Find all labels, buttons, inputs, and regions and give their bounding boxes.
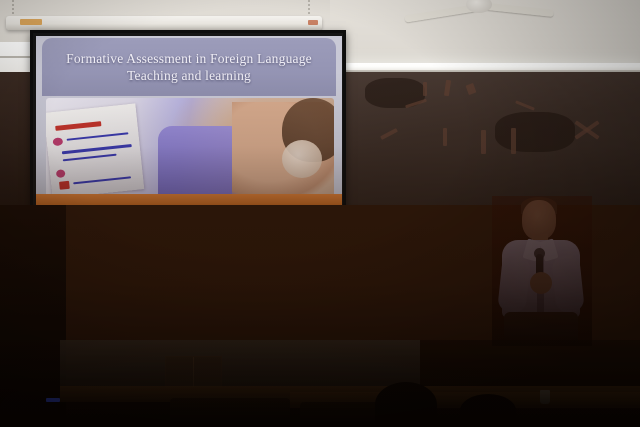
window xyxy=(0,42,30,72)
speaker-hand xyxy=(530,272,552,294)
lecture-hall-photo: Formative Assessment in Foreign Language… xyxy=(0,0,640,427)
slide-title: Formative Assessment in Foreign Language… xyxy=(42,50,336,84)
wall-mark xyxy=(380,128,398,140)
wall-mark xyxy=(515,100,535,110)
foreground-shadow-overlay xyxy=(0,340,640,427)
document-text-line xyxy=(62,144,132,154)
document-logo xyxy=(59,181,70,190)
speaker-arm-right xyxy=(551,255,585,314)
wall-mark xyxy=(423,82,427,96)
roller-endcap xyxy=(308,20,318,25)
roller-label xyxy=(20,19,42,25)
document-logo xyxy=(56,169,66,178)
document-text-line xyxy=(63,154,117,162)
document-text-line xyxy=(55,121,101,131)
photo-document xyxy=(46,103,144,198)
wall-stain xyxy=(495,112,575,152)
audience-foreground xyxy=(0,340,640,427)
small-blue-light xyxy=(46,398,60,402)
document-text-line xyxy=(73,176,131,184)
presentation-slide: Formative Assessment in Foreign Language… xyxy=(36,36,342,206)
document-text-line xyxy=(67,132,129,140)
wall-mark xyxy=(443,128,447,146)
slide-photo xyxy=(46,98,334,198)
fan-hub xyxy=(466,0,492,13)
slide-header-bar: Formative Assessment in Foreign Language… xyxy=(42,38,336,96)
photo-person-head xyxy=(282,140,322,178)
ceiling-fan-icon xyxy=(404,0,554,22)
speaker-figure xyxy=(492,196,592,346)
wall-mark xyxy=(511,128,516,154)
document-logo xyxy=(52,137,63,146)
window-mullion xyxy=(0,56,30,58)
wall-mark xyxy=(444,80,451,97)
wall-mark xyxy=(481,130,486,154)
projector-screen-roller xyxy=(6,16,322,30)
wall-mark xyxy=(466,83,477,95)
